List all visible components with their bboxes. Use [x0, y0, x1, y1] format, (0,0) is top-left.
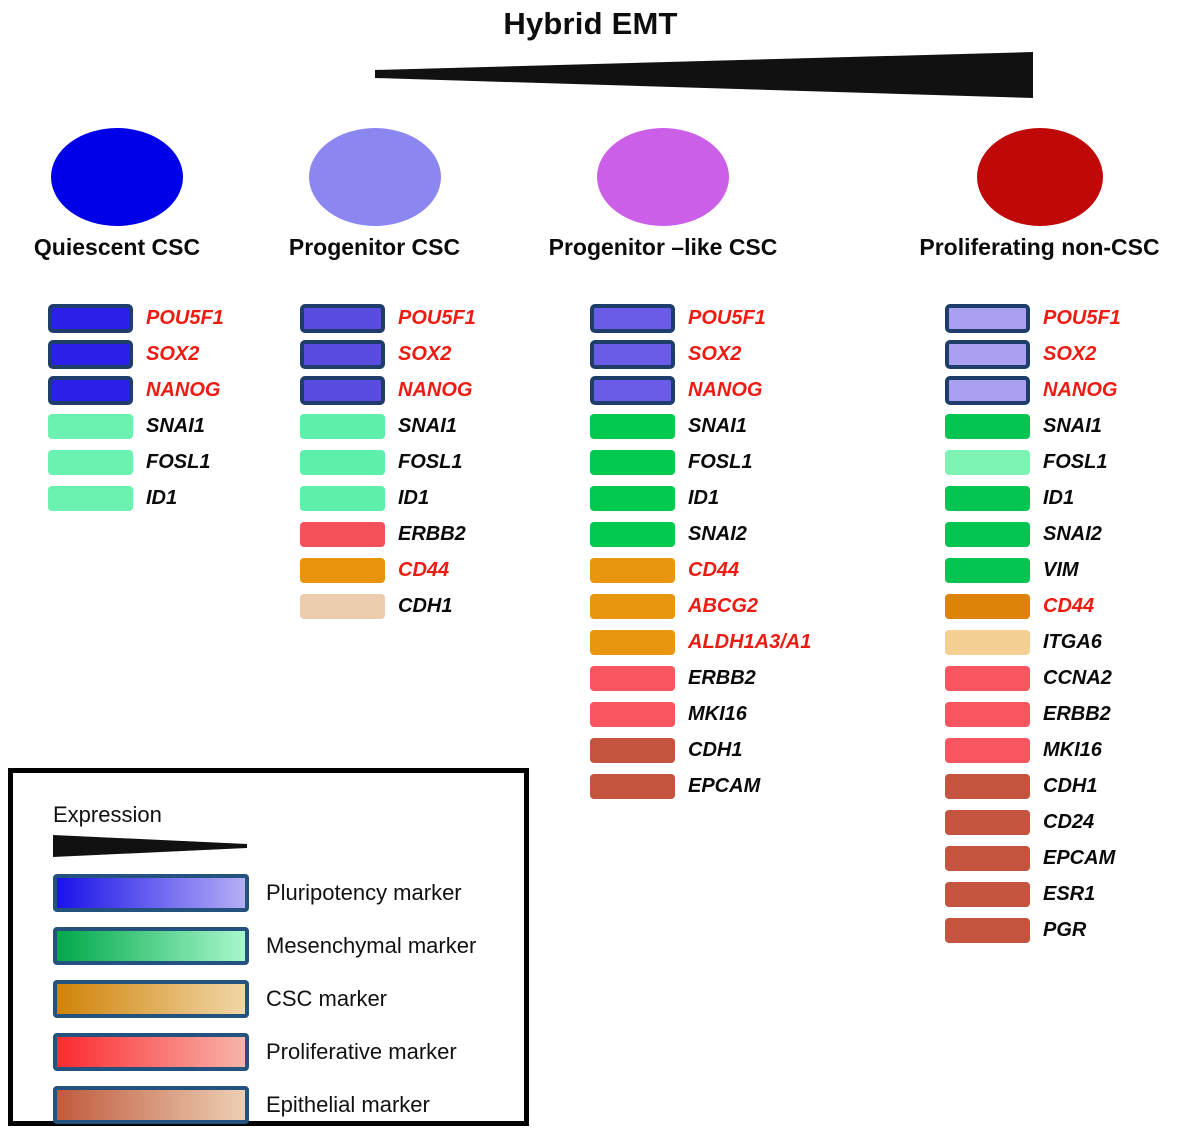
gene-label: MKI16: [1043, 739, 1102, 762]
gene-row[interactable]: CCNA2: [945, 660, 1121, 696]
gene-label: PGR: [1043, 919, 1086, 942]
gene-label: SNAI1: [146, 415, 205, 438]
gene-label: POU5F1: [146, 307, 224, 330]
gene-expression-swatch-mesenchymal: [945, 522, 1030, 547]
gene-row[interactable]: ID1: [300, 480, 476, 516]
gene-label: SNAI2: [1043, 523, 1102, 546]
gene-row[interactable]: ESR1: [945, 876, 1121, 912]
gene-expression-swatch-epithelial: [945, 882, 1030, 907]
gene-expression-swatch-epithelial: [945, 918, 1030, 943]
gene-row[interactable]: SNAI1: [590, 408, 811, 444]
gene-label: NANOG: [146, 379, 220, 402]
gene-expression-swatch-proliferative: [590, 666, 675, 691]
gene-expression-swatch-mesenchymal: [300, 486, 385, 511]
gene-row[interactable]: PGR: [945, 912, 1121, 948]
gene-expression-swatch-pluripotency: [48, 340, 133, 369]
gene-row[interactable]: POU5F1: [48, 300, 224, 336]
gene-label: ID1: [398, 487, 429, 510]
proliferating-non-csc-genes: POU5F1SOX2NANOGSNAI1FOSL1ID1SNAI2VIMCD44…: [945, 300, 1121, 948]
gene-label: SOX2: [1043, 343, 1096, 366]
gene-label: FOSL1: [146, 451, 210, 474]
gene-label: POU5F1: [398, 307, 476, 330]
gene-label: CDH1: [1043, 775, 1097, 798]
gene-row[interactable]: SNAI2: [945, 516, 1121, 552]
gene-label: CCNA2: [1043, 667, 1112, 690]
gene-label: SOX2: [688, 343, 741, 366]
cell-circle-icon: [51, 128, 183, 226]
gene-expression-swatch-pluripotency: [590, 340, 675, 369]
gene-row[interactable]: VIM: [945, 552, 1121, 588]
gene-row[interactable]: SOX2: [48, 336, 224, 372]
gene-label: NANOG: [1043, 379, 1117, 402]
gene-label: EPCAM: [688, 775, 760, 798]
gene-row[interactable]: CD24: [945, 804, 1121, 840]
gene-label: SOX2: [146, 343, 199, 366]
gene-expression-swatch-pluripotency: [300, 376, 385, 405]
gene-expression-swatch-proliferative: [300, 522, 385, 547]
gene-expression-swatch-pluripotency: [590, 376, 675, 405]
gene-label: SNAI1: [688, 415, 747, 438]
gene-label: FOSL1: [1043, 451, 1107, 474]
gene-label: VIM: [1043, 559, 1079, 582]
gene-row[interactable]: CDH1: [945, 768, 1121, 804]
gene-expression-swatch-mesenchymal: [48, 450, 133, 475]
gene-label: MKI16: [688, 703, 747, 726]
gene-row[interactable]: POU5F1: [590, 300, 811, 336]
legend-title: Expression: [53, 802, 162, 828]
gene-row[interactable]: MKI16: [590, 696, 811, 732]
diagram-canvas: Hybrid EMT Quiescent CSCProgenitor CSCPr…: [0, 0, 1181, 1135]
gene-expression-swatch-pluripotency: [945, 340, 1030, 369]
cell-state-3: Proliferating non-CSC: [898, 128, 1181, 261]
gene-row[interactable]: CDH1: [300, 588, 476, 624]
cell-circle-icon: [309, 128, 441, 226]
cell-state-1: Progenitor CSC: [272, 128, 477, 261]
gene-label: SNAI1: [398, 415, 457, 438]
legend-label: Mesenchymal marker: [266, 933, 476, 959]
legend-row: Mesenchymal marker: [53, 919, 513, 972]
legend-panel: Expression Pluripotency markerMesenchyma…: [8, 768, 529, 1126]
gene-row[interactable]: NANOG: [48, 372, 224, 408]
gene-expression-swatch-mesenchymal: [590, 522, 675, 547]
legend-row: Pluripotency marker: [53, 866, 513, 919]
gene-expression-swatch-csc: [945, 630, 1030, 655]
gene-label: POU5F1: [688, 307, 766, 330]
gene-row[interactable]: MKI16: [945, 732, 1121, 768]
gene-expression-swatch-pluripotency: [945, 304, 1030, 333]
gene-expression-swatch-epithelial: [945, 774, 1030, 799]
gene-label: ABCG2: [688, 595, 758, 618]
gene-label: CD24: [1043, 811, 1094, 834]
gene-row[interactable]: NANOG: [945, 372, 1121, 408]
gene-expression-swatch-mesenchymal: [590, 414, 675, 439]
gene-expression-swatch-proliferative: [590, 702, 675, 727]
gene-expression-swatch-epithelial: [590, 774, 675, 799]
gene-row[interactable]: ID1: [945, 480, 1121, 516]
legend-label: Pluripotency marker: [266, 880, 462, 906]
legend-row-list: Pluripotency markerMesenchymal markerCSC…: [53, 866, 513, 1131]
hybrid-emt-gradient-wedge: [375, 52, 1033, 100]
gene-label: CD44: [688, 559, 739, 582]
gene-row[interactable]: SNAI2: [590, 516, 811, 552]
gene-label: CD44: [1043, 595, 1094, 618]
gene-label: SOX2: [398, 343, 451, 366]
gene-row[interactable]: ID1: [48, 480, 224, 516]
legend-gradient-bar: [53, 874, 249, 912]
gene-row[interactable]: ALDH1A3/A1: [590, 624, 811, 660]
gene-expression-swatch-pluripotency: [945, 376, 1030, 405]
gene-label: NANOG: [398, 379, 472, 402]
gene-row[interactable]: SNAI1: [945, 408, 1121, 444]
gene-label: ALDH1A3/A1: [688, 631, 811, 654]
gene-expression-swatch-pluripotency: [48, 304, 133, 333]
gene-label: NANOG: [688, 379, 762, 402]
gene-label: ERBB2: [1043, 703, 1111, 726]
gene-row[interactable]: EPCAM: [590, 768, 811, 804]
gene-expression-swatch-proliferative: [945, 738, 1030, 763]
gene-expression-swatch-mesenchymal: [945, 414, 1030, 439]
gene-row[interactable]: NANOG: [590, 372, 811, 408]
gene-expression-swatch-mesenchymal: [48, 414, 133, 439]
gene-row[interactable]: ID1: [590, 480, 811, 516]
gene-row[interactable]: FOSL1: [300, 444, 476, 480]
legend-row: Proliferative marker: [53, 1025, 513, 1078]
gene-row[interactable]: SNAI1: [48, 408, 224, 444]
gene-expression-swatch-epithelial: [945, 846, 1030, 871]
gene-row[interactable]: CD44: [945, 588, 1121, 624]
progenitor-csc-genes: POU5F1SOX2NANOGSNAI1FOSL1ID1ERBB2CD44CDH…: [300, 300, 476, 624]
gene-label: CD44: [398, 559, 449, 582]
legend-row: CSC marker: [53, 972, 513, 1025]
gene-expression-swatch-proliferative: [945, 666, 1030, 691]
gene-expression-swatch-pluripotency: [300, 340, 385, 369]
gene-label: ESR1: [1043, 883, 1095, 906]
gene-label: SNAI1: [1043, 415, 1102, 438]
gene-label: ITGA6: [1043, 631, 1102, 654]
gene-expression-swatch-mesenchymal: [590, 486, 675, 511]
gene-expression-swatch-epithelial: [590, 738, 675, 763]
legend-label: Epithelial marker: [266, 1092, 430, 1118]
gene-row[interactable]: FOSL1: [945, 444, 1121, 480]
gene-row[interactable]: FOSL1: [590, 444, 811, 480]
gene-row[interactable]: FOSL1: [48, 444, 224, 480]
gene-row[interactable]: SOX2: [945, 336, 1121, 372]
gene-label: ID1: [146, 487, 177, 510]
gene-expression-swatch-mesenchymal: [300, 414, 385, 439]
legend-label: CSC marker: [266, 986, 387, 1012]
progenitor-like-csc-genes: POU5F1SOX2NANOGSNAI1FOSL1ID1SNAI2CD44ABC…: [590, 300, 811, 804]
gene-label: POU5F1: [1043, 307, 1121, 330]
expression-gradient-wedge: [53, 835, 247, 857]
gene-expression-swatch-csc: [945, 594, 1030, 619]
legend-gradient-bar: [53, 1086, 249, 1124]
gene-label: ERBB2: [398, 523, 466, 546]
gene-expression-swatch-epithelial: [300, 594, 385, 619]
gene-label: CDH1: [398, 595, 452, 618]
cell-circle-icon: [977, 128, 1103, 226]
gene-expression-swatch-mesenchymal: [945, 558, 1030, 583]
cell-circle-icon: [597, 128, 729, 226]
gene-row[interactable]: POU5F1: [945, 300, 1121, 336]
gene-row[interactable]: SOX2: [300, 336, 476, 372]
legend-gradient-bar: [53, 927, 249, 965]
legend-label: Proliferative marker: [266, 1039, 457, 1065]
gene-row[interactable]: CDH1: [590, 732, 811, 768]
gene-expression-swatch-pluripotency: [48, 376, 133, 405]
gene-row[interactable]: ERBB2: [590, 660, 811, 696]
cell-state-2: Progenitor –like CSC: [528, 128, 798, 261]
gene-expression-swatch-mesenchymal: [945, 450, 1030, 475]
quiescent-csc-genes: POU5F1SOX2NANOGSNAI1FOSL1ID1: [48, 300, 224, 516]
cell-state-title: Progenitor CSC: [272, 234, 477, 261]
gene-expression-swatch-epithelial: [945, 810, 1030, 835]
gene-expression-swatch-mesenchymal: [48, 486, 133, 511]
gene-expression-swatch-mesenchymal: [945, 486, 1030, 511]
legend-gradient-bar: [53, 980, 249, 1018]
gene-expression-swatch-proliferative: [945, 702, 1030, 727]
gene-row[interactable]: POU5F1: [300, 300, 476, 336]
gene-row[interactable]: SNAI1: [300, 408, 476, 444]
gene-expression-swatch-pluripotency: [590, 304, 675, 333]
cell-state-0: Quiescent CSC: [22, 128, 212, 261]
cell-state-title: Proliferating non-CSC: [898, 234, 1181, 261]
gene-label: ID1: [1043, 487, 1074, 510]
gene-row[interactable]: ITGA6: [945, 624, 1121, 660]
gene-expression-swatch-mesenchymal: [300, 450, 385, 475]
gene-row[interactable]: ERBB2: [945, 696, 1121, 732]
gene-row[interactable]: CD44: [590, 552, 811, 588]
gene-row[interactable]: NANOG: [300, 372, 476, 408]
gene-label: FOSL1: [398, 451, 462, 474]
gene-expression-swatch-csc: [590, 594, 675, 619]
gene-expression-swatch-pluripotency: [300, 304, 385, 333]
cell-state-title: Quiescent CSC: [22, 234, 212, 261]
page-title: Hybrid EMT: [0, 6, 1181, 42]
gene-label: ERBB2: [688, 667, 756, 690]
gene-row[interactable]: ABCG2: [590, 588, 811, 624]
gene-expression-swatch-csc: [590, 630, 675, 655]
gene-row[interactable]: CD44: [300, 552, 476, 588]
gene-expression-swatch-mesenchymal: [590, 450, 675, 475]
gene-label: FOSL1: [688, 451, 752, 474]
cell-state-title: Progenitor –like CSC: [528, 234, 798, 261]
gene-label: CDH1: [688, 739, 742, 762]
gene-expression-swatch-csc: [590, 558, 675, 583]
gene-label: ID1: [688, 487, 719, 510]
gene-row[interactable]: EPCAM: [945, 840, 1121, 876]
legend-gradient-bar: [53, 1033, 249, 1071]
legend-row: Epithelial marker: [53, 1078, 513, 1131]
gene-expression-swatch-csc: [300, 558, 385, 583]
gene-row[interactable]: ERBB2: [300, 516, 476, 552]
gene-label: SNAI2: [688, 523, 747, 546]
gene-row[interactable]: SOX2: [590, 336, 811, 372]
gene-label: EPCAM: [1043, 847, 1115, 870]
